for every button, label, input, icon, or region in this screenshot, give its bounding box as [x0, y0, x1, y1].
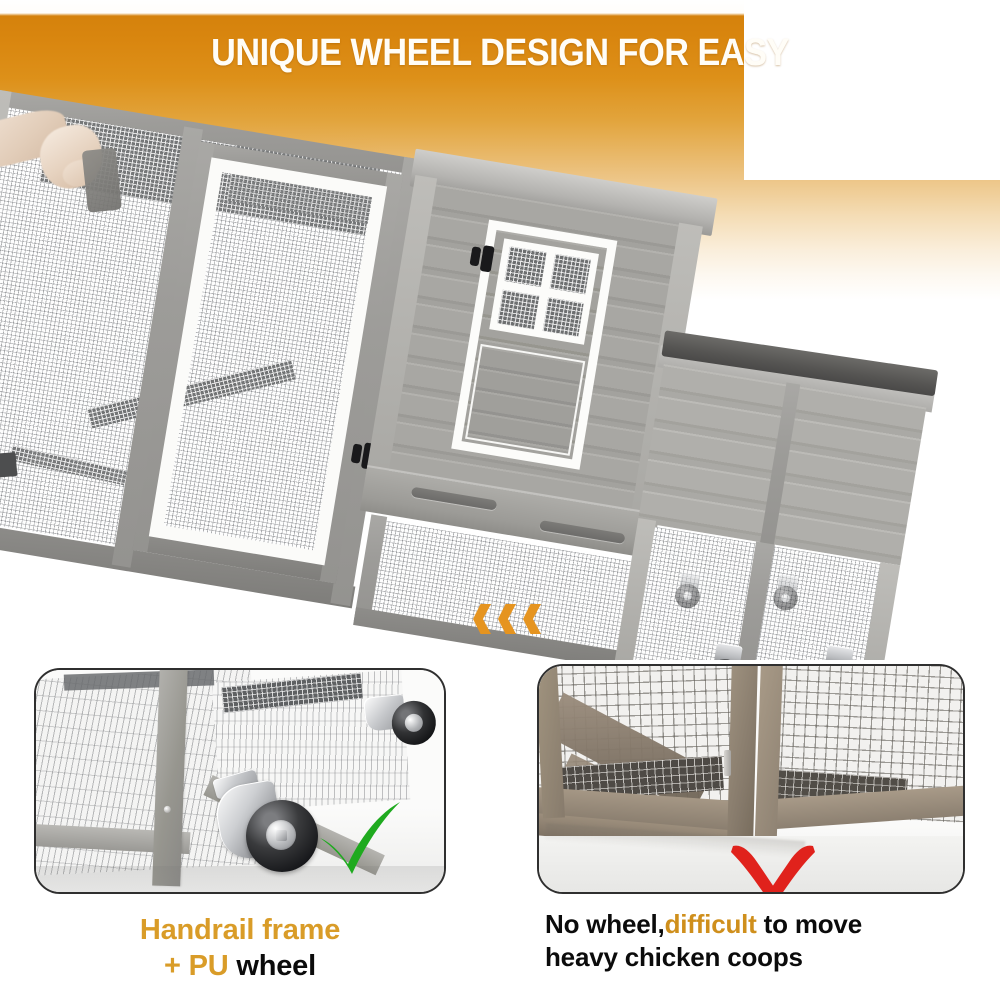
product-infographic: UNIQUE WHEEL DESIGN FOR EASY — [0, 0, 1000, 1000]
axle-bolt — [276, 830, 287, 841]
house-door-hinge — [469, 243, 493, 270]
window-pane-top-right — [549, 254, 591, 294]
ramp-foot — [0, 452, 17, 478]
caption-left-rest: wheel — [229, 950, 316, 982]
chevron-left-icon — [523, 604, 541, 634]
door-latch — [724, 750, 731, 776]
screw-head — [164, 806, 171, 813]
detail-panel-with-wheel — [34, 668, 446, 894]
window-pane-top-left — [504, 246, 546, 286]
chevron-left-icon — [473, 604, 491, 634]
caption-right-line1: No wheel,difficult to move — [545, 908, 975, 941]
nesting-box-section — [614, 329, 939, 660]
green-check-icon — [312, 798, 408, 878]
window-pane-bottom-left — [497, 289, 539, 329]
house-door-window — [489, 238, 599, 344]
tray-handle-left[interactable] — [411, 487, 497, 511]
chevron-left-icon — [498, 604, 516, 634]
window-pane-bottom-right — [542, 297, 584, 337]
direction-chevrons — [473, 601, 583, 637]
studio-backdrop-fill — [744, 0, 1000, 180]
hero-section: UNIQUE WHEEL DESIGN FOR EASY — [0, 0, 1000, 660]
caption-left: Handrail frame + PU wheel — [34, 912, 446, 984]
caption-left-line1: Handrail frame — [34, 912, 446, 948]
tray-handle-right[interactable] — [539, 520, 625, 544]
caster-bracket — [714, 643, 743, 660]
caption-left-line2: + PU wheel — [34, 948, 446, 984]
caption-right-part-a: No wheel, — [545, 909, 665, 939]
house-door-lower-panel — [465, 344, 585, 456]
hero-title: UNIQUE WHEEL DESIGN FOR EASY — [50, 33, 950, 73]
gripped-frame-post — [82, 148, 122, 213]
caption-right-part-b: to move — [757, 909, 862, 939]
detail-panel-no-wheel — [537, 664, 965, 894]
caption-right-accent: difficult — [665, 909, 757, 939]
red-cross-icon — [727, 844, 819, 894]
caption-right-line2: heavy chicken coops — [545, 941, 975, 974]
pu-caster-wheel-closeup — [212, 774, 320, 884]
caption-left-accent: + PU — [164, 950, 228, 982]
secondary-caster-wheel — [363, 690, 443, 759]
caption-right: No wheel,difficult to move heavy chicken… — [545, 908, 975, 974]
